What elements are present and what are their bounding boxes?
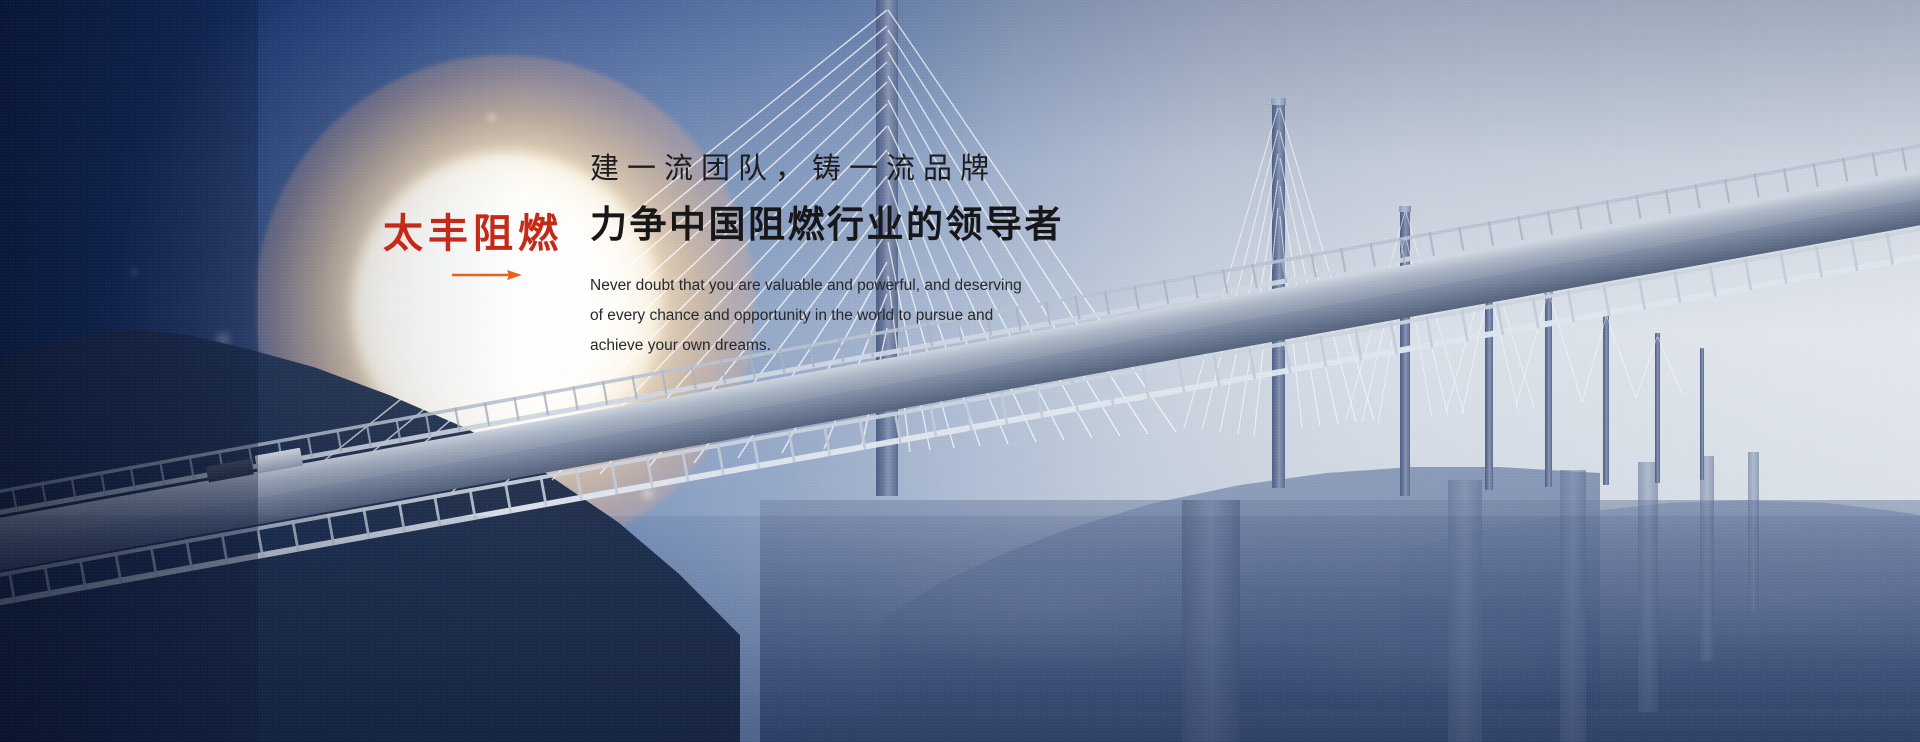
hero-paragraph: Never doubt that you are valuable and po… — [590, 271, 1060, 362]
hero-banner: 太丰阻燃 建一流团队，铸一流品牌 力争中国阻燃行业的领导者 Never doub… — [0, 0, 1920, 742]
hero-subheadline: 建一流团队，铸一流品牌 — [590, 150, 1290, 186]
halftone-texture — [0, 0, 1920, 742]
hero-copy: 建一流团队，铸一流品牌 力争中国阻燃行业的领导者 Never doubt tha… — [590, 150, 1290, 361]
hero-headline: 力争中国阻燃行业的领导者 — [590, 202, 1290, 248]
brand-logo[interactable]: 太丰阻燃 — [378, 214, 568, 254]
brand-logo-text: 太丰阻燃 — [378, 214, 568, 254]
right-arrow-icon — [452, 268, 522, 282]
